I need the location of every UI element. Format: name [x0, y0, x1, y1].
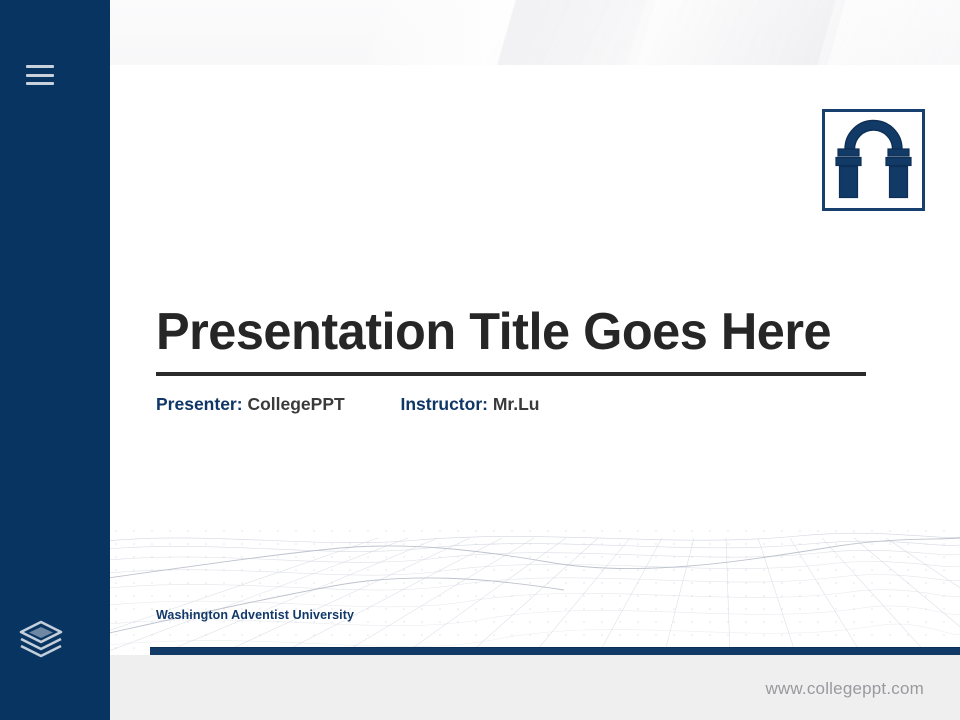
- hamburger-bar: [26, 65, 54, 68]
- hamburger-menu-icon[interactable]: [26, 63, 54, 87]
- organization-name: Washington Adventist University: [156, 608, 354, 622]
- title-block: Presentation Title Goes Here Presenter: …: [156, 305, 868, 415]
- footer-bar: www.collegeppt.com: [110, 655, 960, 720]
- presentation-preview-window: Presentation Title Goes Here Presenter: …: [0, 0, 960, 720]
- presenter-name: CollegePPT: [247, 394, 344, 414]
- title-divider: [156, 372, 866, 376]
- wireframe-mesh-decoration: [78, 490, 960, 655]
- university-arch-logo: [822, 109, 925, 211]
- left-sidebar: [0, 0, 110, 720]
- layers-stack-icon[interactable]: [18, 618, 64, 662]
- instructor-label: Instructor:: [400, 394, 488, 414]
- byline: Presenter: CollegePPT Instructor: Mr.Lu: [156, 394, 868, 415]
- instructor-name: Mr.Lu: [493, 394, 540, 414]
- hamburger-bar: [26, 74, 54, 77]
- footer-url[interactable]: www.collegeppt.com: [765, 679, 924, 699]
- page-title: Presentation Title Goes Here: [156, 305, 847, 360]
- slide-canvas[interactable]: Presentation Title Goes Here Presenter: …: [78, 65, 960, 655]
- presenter-label: Presenter:: [156, 394, 243, 414]
- slide-bottom-accent-bar: [150, 647, 960, 655]
- hamburger-bar: [26, 82, 54, 85]
